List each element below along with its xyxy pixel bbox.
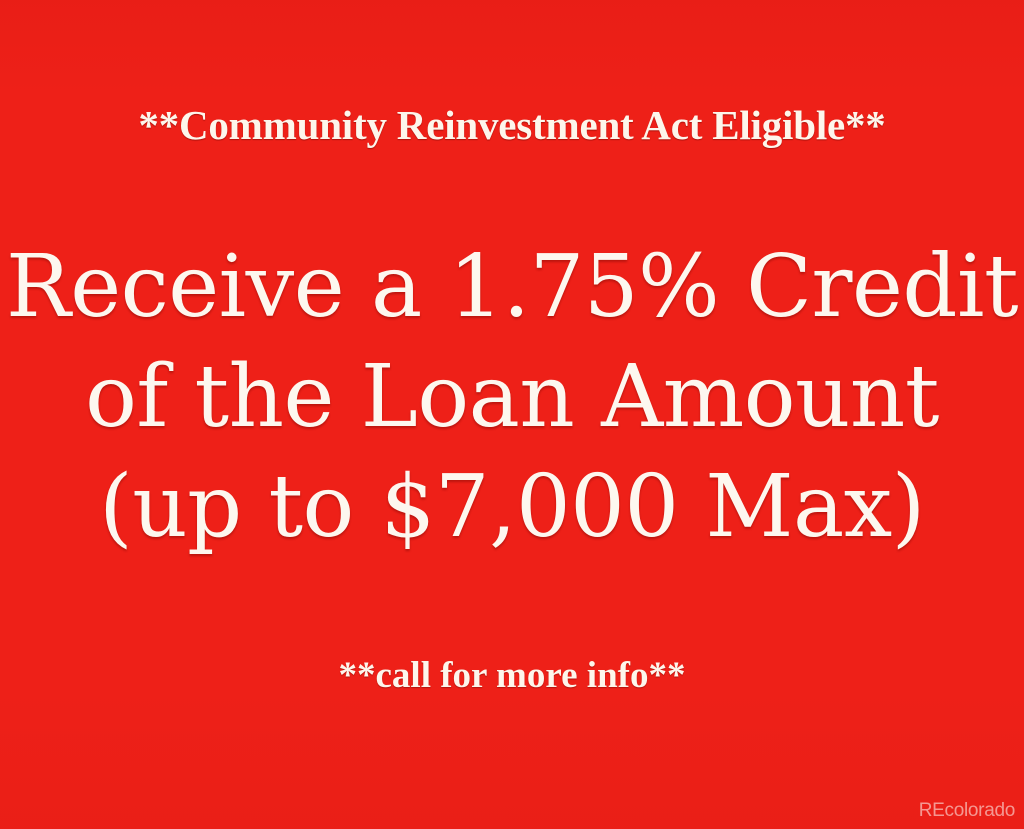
recolorado-watermark: REcolorado <box>919 801 1015 820</box>
call-for-info-note: **call for more info** <box>0 654 1024 697</box>
offer-line-2: of the Loan Amount <box>0 342 1024 452</box>
promo-flyer: **Community Reinvestment Act Eligible** … <box>0 0 1024 829</box>
offer-block: Receive a 1.75% Credit of the Loan Amoun… <box>0 232 1024 562</box>
offer-line-3: (up to $7,000 Max) <box>0 452 1024 562</box>
offer-line-1: Receive a 1.75% Credit <box>0 232 1024 342</box>
eligibility-banner: **Community Reinvestment Act Eligible** <box>0 104 1024 147</box>
